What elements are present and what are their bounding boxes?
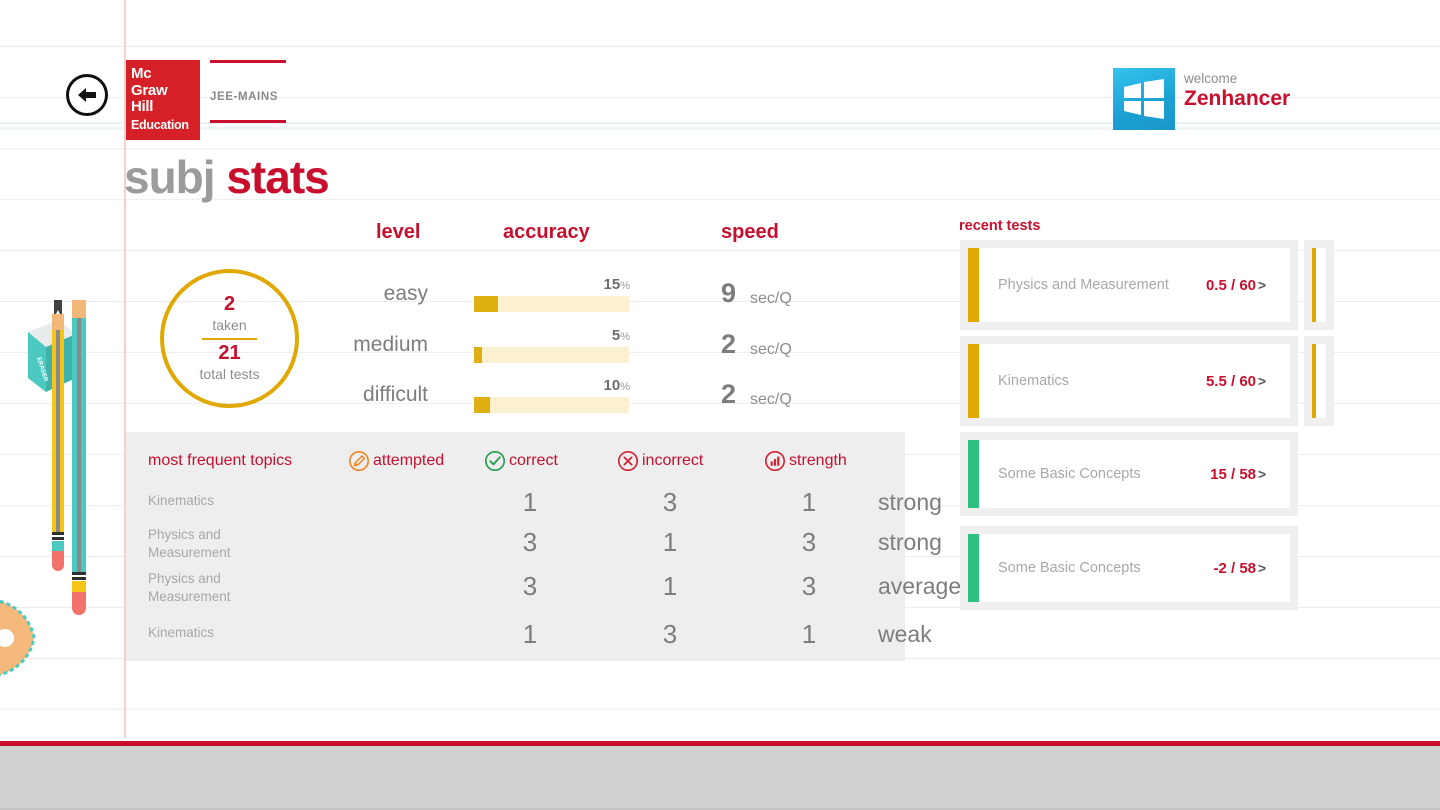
speed-unit: sec/Q [750, 390, 792, 410]
topics-title: most frequent topics [148, 452, 292, 470]
recent-test-score: 5.5 / 60 [1206, 373, 1256, 390]
recent-test-peek-accent-bar [1312, 344, 1316, 418]
table-row[interactable]: Kinematics131weak [126, 618, 905, 662]
exam-badge: JEE-MAINS [210, 60, 286, 140]
recent-test-name: Kinematics [998, 372, 1206, 391]
recent-test-name: Some Basic Concepts [998, 465, 1210, 484]
column-header-speed: speed [721, 221, 779, 244]
accuracy-bar-fill [474, 347, 482, 363]
recent-test-accent-bar [968, 440, 979, 508]
score-separator: / [1227, 560, 1240, 577]
column-header-accuracy: accuracy [503, 221, 590, 244]
recent-test-name: Physics and Measurement [998, 276, 1206, 295]
table-row[interactable]: Kinematics131strong [126, 486, 905, 530]
accuracy-percent: 10% [520, 377, 630, 396]
header-incorrect: incorrect [617, 450, 703, 472]
percent-symbol: % [620, 280, 630, 292]
recent-test-card-peek[interactable] [1304, 240, 1334, 330]
recent-test-card-peek-body [1312, 248, 1326, 322]
score-total: 58 [1239, 466, 1256, 483]
recent-test-card-body: Kinematics5.5 / 60> [968, 344, 1290, 418]
most-frequent-topics-panel: most frequent topics attempted [126, 432, 905, 661]
recent-test-accent-bar [968, 248, 979, 322]
x-circle-icon [617, 450, 639, 472]
pencil-shaving-icon [0, 600, 34, 676]
exam-badge-bottom-rule [210, 120, 286, 123]
score-total: 60 [1239, 277, 1256, 294]
speed-value: 2 [700, 329, 736, 359]
score-total: 58 [1239, 560, 1256, 577]
welcome-label: welcome [1184, 70, 1290, 87]
topic-name: Physics and Measurement [148, 570, 298, 606]
logo-line-3: Hill [131, 99, 200, 116]
strength-value: weak [878, 618, 1018, 650]
accuracy-percent: 15% [520, 276, 630, 295]
recent-test-card[interactable]: Kinematics5.5 / 60> [960, 336, 1298, 426]
header-correct: correct [484, 450, 558, 472]
recent-test-card-peek[interactable] [1304, 336, 1334, 426]
recent-test-card-peek-body [1312, 344, 1326, 418]
page-title-part1: subj [124, 151, 226, 203]
topics-table-header: most frequent topics attempted [126, 450, 905, 476]
recent-tests-label: recent tests [959, 218, 1040, 234]
score-separator: / [1227, 277, 1240, 294]
recent-test-card[interactable]: Physics and Measurement0.5 / 60> [960, 240, 1298, 330]
accuracy-percent-value: 15 [604, 276, 621, 293]
header-strength: strength [764, 450, 847, 472]
recent-test-card[interactable]: Some Basic Concepts-2 / 58> [960, 526, 1298, 610]
header-attempted-label: attempted [373, 452, 444, 470]
app-root: ERASER [0, 0, 1440, 810]
recent-test-score: -2 / 58 [1213, 560, 1256, 577]
attempted-value: 3 [500, 570, 560, 602]
header-correct-label: correct [509, 452, 558, 470]
recent-test-peek-accent-bar [1312, 248, 1316, 322]
score-obtained: 0.5 [1206, 277, 1227, 294]
attempted-value: 1 [500, 486, 560, 518]
recent-test-score: 0.5 / 60 [1206, 277, 1256, 294]
recent-test-card-body: Some Basic Concepts-2 / 58> [968, 534, 1290, 602]
recent-test-card-body: Some Basic Concepts15 / 58> [968, 440, 1290, 508]
speed-value: 9 [700, 278, 736, 308]
incorrect-value: 1 [779, 618, 839, 650]
correct-value: 1 [640, 570, 700, 602]
logo-line-1: Mc [131, 66, 200, 83]
chevron-right-icon[interactable]: > [1258, 277, 1266, 293]
topic-name: Kinematics [148, 624, 298, 642]
score-obtained: -2 [1213, 560, 1226, 577]
bar-chart-circle-icon [764, 450, 786, 472]
score-obtained: 15 [1210, 466, 1227, 483]
recent-test-card-body: Physics and Measurement0.5 / 60> [968, 248, 1290, 322]
correct-value: 3 [640, 486, 700, 518]
chevron-right-icon[interactable]: > [1258, 373, 1266, 389]
accuracy-bar-track [474, 296, 629, 312]
exam-label: JEE-MAINS [210, 91, 286, 103]
accuracy-bar-track [474, 397, 629, 413]
level-name: difficult [308, 381, 428, 409]
incorrect-value: 3 [779, 570, 839, 602]
recent-test-accent-bar [968, 534, 979, 602]
mcgraw-hill-logo: Mc Graw Hill Education [126, 60, 200, 140]
percent-symbol: % [620, 381, 630, 393]
logo-line-2: Graw [131, 83, 200, 100]
recent-test-score: 15 / 58 [1210, 466, 1256, 483]
speed-value: 2 [700, 379, 736, 409]
logo-line-4: Education [131, 117, 200, 134]
recent-test-name: Some Basic Concepts [998, 559, 1213, 578]
correct-value: 3 [640, 618, 700, 650]
accuracy-bar-fill [474, 296, 498, 312]
welcome-block: welcome Zenhancer [1184, 70, 1290, 111]
chevron-right-icon[interactable]: > [1258, 560, 1266, 576]
table-row[interactable]: Physics and Measurement313average [126, 570, 905, 614]
windows-tile-icon[interactable] [1113, 68, 1175, 130]
score-separator: / [1227, 466, 1240, 483]
footer-bar [0, 746, 1440, 810]
recent-test-card[interactable]: Some Basic Concepts15 / 58> [960, 432, 1298, 516]
score-separator: / [1227, 373, 1240, 390]
percent-symbol: % [620, 331, 630, 343]
level-name: easy [308, 280, 428, 308]
user-name: Zenhancer [1184, 87, 1290, 111]
incorrect-value: 3 [779, 526, 839, 558]
accuracy-bar-track [474, 347, 629, 363]
recent-test-accent-bar [968, 344, 979, 418]
check-circle-icon [484, 450, 506, 472]
pencil-circle-icon [348, 450, 370, 472]
accuracy-percent-value: 5 [612, 327, 620, 344]
back-arrow-icon [76, 86, 98, 104]
incorrect-value: 1 [779, 486, 839, 518]
topic-name: Physics and Measurement [148, 526, 298, 562]
speed-unit: sec/Q [750, 340, 792, 360]
score-obtained: 5.5 [1206, 373, 1227, 390]
attempted-value: 3 [500, 526, 560, 558]
score-total: 60 [1239, 373, 1256, 390]
page-title: subj stats [124, 150, 329, 204]
accuracy-bar-fill [474, 397, 490, 413]
table-row[interactable]: Physics and Measurement313strong [126, 526, 905, 570]
accuracy-percent: 5% [520, 327, 630, 346]
level-name: medium [308, 331, 428, 359]
column-header-level: level [376, 221, 420, 244]
header-incorrect-label: incorrect [642, 452, 703, 470]
attempted-value: 1 [500, 618, 560, 650]
exam-badge-top-rule [210, 60, 286, 63]
speed-unit: sec/Q [750, 289, 792, 309]
chevron-right-icon[interactable]: > [1258, 466, 1266, 482]
correct-value: 1 [640, 526, 700, 558]
accuracy-percent-value: 10 [604, 377, 621, 394]
header-strength-label: strength [789, 452, 847, 470]
topic-name: Kinematics [148, 492, 298, 510]
back-button[interactable] [66, 74, 108, 116]
page-title-part2: stats [226, 151, 328, 203]
header-attempted: attempted [348, 450, 444, 472]
